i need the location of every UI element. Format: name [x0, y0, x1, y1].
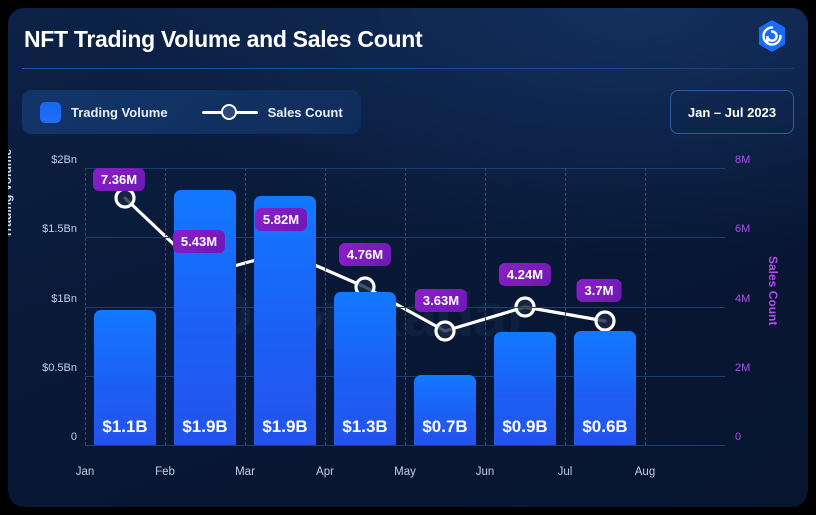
legend-label-trading-volume: Trading Volume: [71, 105, 168, 120]
bar-value-label: $0.9B: [494, 417, 556, 437]
y-axis-tick-left: $1Bn: [17, 293, 77, 305]
x-axis-tick: Jul: [535, 466, 595, 478]
horizontal-gridline: [85, 445, 725, 446]
sales-count-value-label: 3.7M: [577, 279, 622, 302]
vertical-gridline: [485, 168, 486, 445]
sales-count-point-marker[interactable]: [436, 322, 454, 340]
vertical-gridline: [245, 168, 246, 445]
y-axis-tick-left: $2Bn: [17, 154, 77, 166]
bar-value-label: $1.1B: [94, 417, 156, 437]
vertical-gridline: [325, 168, 326, 445]
sales-count-value-label: 3.63M: [415, 289, 467, 312]
sales-count-value-label: 4.76M: [339, 243, 391, 266]
trading-volume-swatch-icon: [40, 102, 61, 123]
bar-value-label: $1.9B: [174, 417, 236, 437]
x-axis-tick: May: [375, 466, 435, 478]
legend-item-sales-count[interactable]: Sales Count: [202, 104, 343, 120]
x-axis-tick: Apr: [295, 466, 355, 478]
y-axis-tick-right: 8M: [735, 154, 795, 166]
y-axis-title-left: Trading Volume: [8, 149, 14, 238]
vertical-gridline: [565, 168, 566, 445]
x-axis-tick: Jan: [55, 466, 115, 478]
vertical-gridline: [85, 168, 86, 445]
sales-count-line-icon: [202, 104, 258, 120]
legend-label-sales-count: Sales Count: [268, 105, 343, 120]
y-axis-tick-left: $1.5Bn: [17, 223, 77, 235]
sales-count-value-label: 5.43M: [173, 230, 225, 253]
bar-trading-volume[interactable]: [254, 196, 316, 445]
vertical-gridline: [645, 168, 646, 445]
chart-card: NFT Trading Volume and Sales Count Tradi…: [8, 8, 808, 507]
y-axis-tick-right: 2M: [735, 362, 795, 374]
y-axis-tick-right: 6M: [735, 223, 795, 235]
legend-item-trading-volume[interactable]: Trading Volume: [40, 102, 168, 123]
bar-trading-volume[interactable]: [174, 190, 236, 445]
sales-count-value-label: 5.82M: [255, 208, 307, 231]
y-axis-tick-right: 4M: [735, 293, 795, 305]
bar-value-label: $1.3B: [334, 417, 396, 437]
x-axis-tick: Jun: [455, 466, 515, 478]
vertical-gridline: [405, 168, 406, 445]
date-range-badge[interactable]: Jan – Jul 2023: [670, 90, 794, 134]
page-title: NFT Trading Volume and Sales Count: [24, 26, 422, 53]
sales-count-dot-icon: [221, 104, 237, 120]
y-axis-tick-left: $0.5Bn: [17, 362, 77, 374]
y-axis-title-right: Sales Count: [766, 256, 780, 325]
chart-legend: Trading Volume Sales Count: [22, 90, 361, 134]
x-axis-tick: Mar: [215, 466, 275, 478]
sales-count-point-marker[interactable]: [116, 189, 134, 207]
header-divider: [22, 68, 794, 69]
y-axis-tick-right: 0: [735, 431, 795, 443]
sales-count-value-label: 7.36M: [93, 168, 145, 191]
x-axis-tick: Feb: [135, 466, 195, 478]
sales-count-point-marker[interactable]: [596, 312, 614, 330]
bar-value-label: $0.6B: [574, 417, 636, 437]
bar-value-label: $1.9B: [254, 417, 316, 437]
y-axis-tick-left: 0: [17, 431, 77, 443]
dappradar-hexagon-logo-icon: [750, 14, 794, 58]
sales-count-value-label: 4.24M: [499, 263, 551, 286]
bar-value-label: $0.7B: [414, 417, 476, 437]
vertical-gridline: [165, 168, 166, 445]
x-axis-tick: Aug: [615, 466, 675, 478]
